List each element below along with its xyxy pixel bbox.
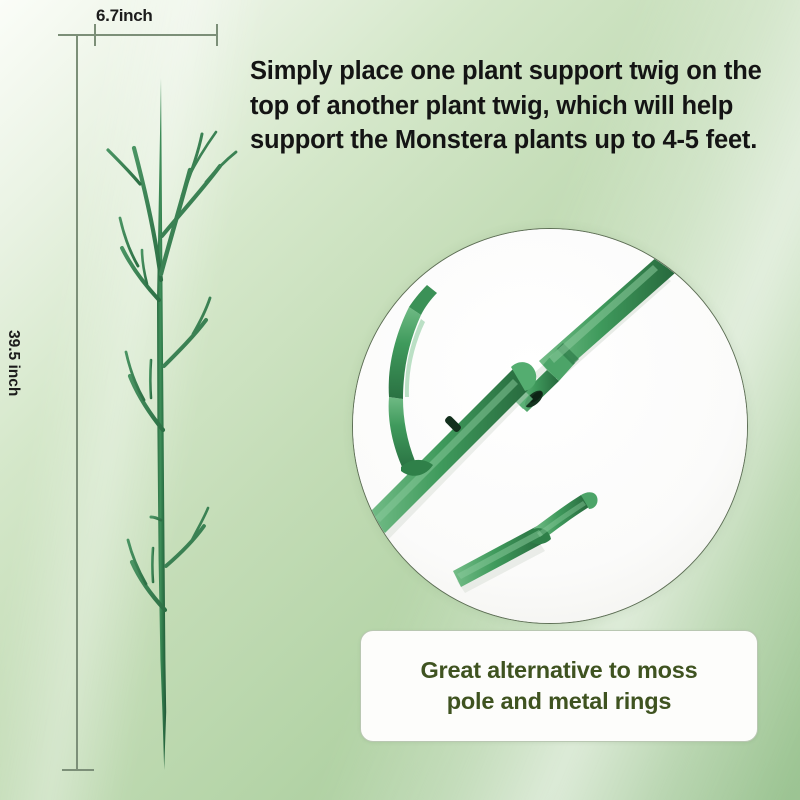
stake-branch-group-lower bbox=[128, 508, 208, 610]
inset-product-photo bbox=[353, 229, 747, 623]
stake-branch-group-top bbox=[108, 132, 236, 300]
callout-box: Great alternative to moss pole and metal… bbox=[360, 630, 758, 742]
headline-text: Simply place one plant support twig on t… bbox=[250, 54, 798, 158]
infographic-canvas: 6.7inch 39.5 inch Simply place one plant… bbox=[0, 0, 800, 800]
width-dimension-label: 6.7inch bbox=[96, 6, 152, 26]
product-detail-inset bbox=[352, 228, 748, 624]
stake-branch-group-middle bbox=[126, 298, 210, 430]
height-dimension-label: 39.5 inch bbox=[4, 330, 22, 396]
callout-text: Great alternative to moss pole and metal… bbox=[420, 655, 697, 716]
